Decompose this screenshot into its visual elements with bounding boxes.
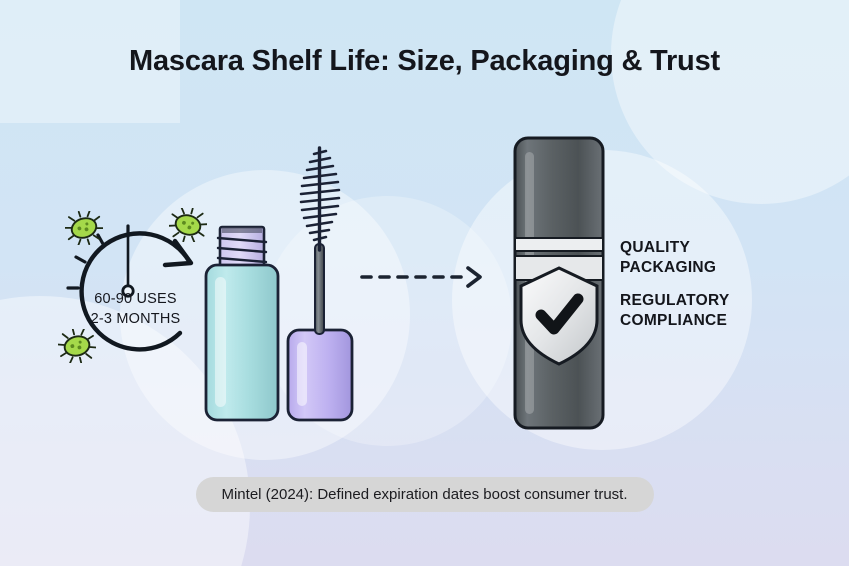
infographic-canvas: Mascara Shelf Life: Size, Packaging & Tr… <box>0 0 849 566</box>
mascara-product-group <box>196 132 361 432</box>
benefits-label-stack: QUALITY PACKAGING REGULATORY COMPLIANCE <box>620 238 800 344</box>
label-line: PACKAGING <box>620 258 800 278</box>
label-line: COMPLIANCE <box>620 311 800 331</box>
circle-decoration-top-right <box>611 0 849 204</box>
label-quality-packaging: QUALITY PACKAGING <box>620 238 800 279</box>
source-caption: Mintel (2024): Defined expiration dates … <box>195 477 653 512</box>
germ-icon <box>58 329 96 363</box>
packaged-mascara-group <box>505 130 615 435</box>
mascara-wand-icon <box>288 148 352 420</box>
dashed-arrow-right-icon <box>360 262 490 292</box>
label-line: REGULATORY <box>620 291 800 311</box>
label-regulatory-compliance: REGULATORY COMPLIANCE <box>620 291 800 332</box>
germ-icon <box>65 211 103 245</box>
page-title: Mascara Shelf Life: Size, Packaging & Tr… <box>0 45 849 78</box>
label-line: QUALITY <box>620 238 800 258</box>
mascara-tube-icon <box>206 227 278 420</box>
